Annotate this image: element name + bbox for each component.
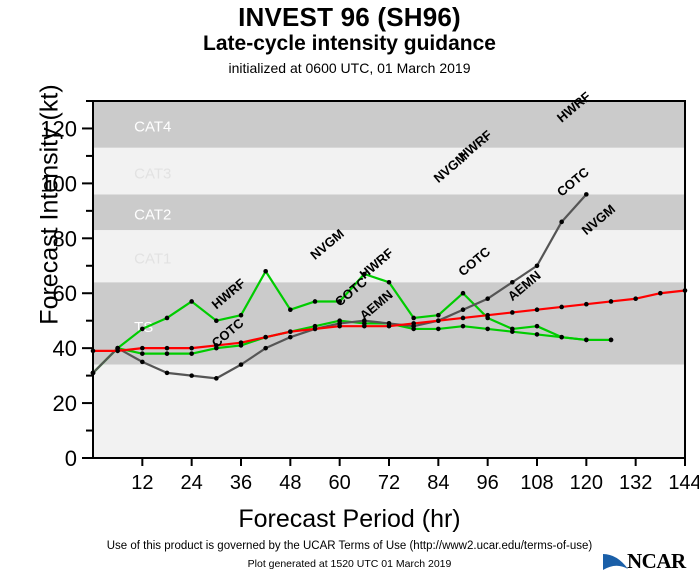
series-point-aemn [633, 296, 638, 301]
intensity-chart: TSCAT1CAT2CAT3CAT41224364860728496108120… [0, 0, 699, 577]
series-point-hwrf [214, 318, 219, 323]
series-point-aemn [584, 302, 589, 307]
series-point-nvgm [485, 327, 490, 332]
band-label-cat4: CAT4 [134, 119, 171, 136]
series-point-cotc [140, 360, 145, 365]
series-point-aemn [559, 305, 564, 310]
band-label-cat3: CAT3 [134, 165, 171, 182]
series-point-nvgm [461, 324, 466, 329]
band-label-cat1: CAT1 [134, 251, 171, 268]
series-point-nvgm [140, 351, 145, 356]
series-point-aemn [140, 346, 145, 351]
y-tick-label: 80 [53, 226, 77, 251]
y-tick-label: 60 [53, 281, 77, 306]
band-below-ts [93, 365, 685, 458]
series-point-aemn [387, 324, 392, 329]
series-point-hwrf [140, 327, 145, 332]
series-point-aemn [337, 324, 342, 329]
x-tick-label: 24 [181, 472, 203, 494]
x-tick-label: 48 [279, 472, 301, 494]
x-tick-label: 96 [477, 472, 499, 494]
series-point-aemn [288, 329, 293, 334]
series-point-hwrf [189, 299, 194, 304]
x-tick-label: 120 [570, 472, 603, 494]
series-point-cotc [559, 220, 564, 225]
series-point-hwrf [263, 269, 268, 274]
series-point-aemn [609, 299, 614, 304]
series-point-aemn [461, 316, 466, 321]
series-point-cotc [485, 296, 490, 301]
series-point-nvgm [584, 338, 589, 343]
chart-page: INVEST 96 (SH96) Late-cycle intensity gu… [0, 0, 699, 577]
series-point-hwrf [313, 299, 318, 304]
series-point-nvgm [436, 327, 441, 332]
series-point-cotc [91, 371, 96, 376]
series-point-aemn [411, 321, 416, 326]
x-tick-label: 132 [619, 472, 652, 494]
series-point-cotc [189, 373, 194, 378]
x-tick-label: 60 [329, 472, 351, 494]
band-cat3 [93, 148, 685, 195]
series-point-nvgm [559, 335, 564, 340]
series-point-hwrf [239, 313, 244, 318]
x-tick-label: 36 [230, 472, 252, 494]
series-point-cotc [288, 335, 293, 340]
x-tick-label: 12 [131, 472, 153, 494]
y-tick-label: 20 [53, 391, 77, 416]
y-tick-label: 120 [40, 116, 77, 141]
series-point-hwrf [288, 307, 293, 312]
series-point-hwrf [461, 291, 466, 296]
x-tick-label: 72 [378, 472, 400, 494]
series-point-cotc [461, 307, 466, 312]
series-point-hwrf [436, 313, 441, 318]
series-point-nvgm [165, 351, 170, 356]
series-point-aemn [510, 310, 515, 315]
terms-of-use-text: Use of this product is governed by the U… [0, 540, 699, 552]
series-point-aemn [362, 324, 367, 329]
series-point-cotc [263, 346, 268, 351]
series-point-hwrf [165, 316, 170, 321]
series-point-aemn [535, 307, 540, 312]
x-tick-label: 84 [427, 472, 449, 494]
series-point-nvgm [609, 338, 614, 343]
y-tick-label: 100 [40, 171, 77, 196]
series-point-aemn [165, 346, 170, 351]
series-point-nvgm [189, 351, 194, 356]
series-point-nvgm [510, 329, 515, 334]
ncar-logo-text: NCAR [627, 549, 686, 574]
series-point-aemn [263, 335, 268, 340]
band-cat4 [93, 101, 685, 148]
series-point-aemn [485, 313, 490, 318]
series-point-nvgm [535, 332, 540, 337]
series-point-aemn [313, 327, 318, 332]
series-point-cotc [214, 376, 219, 381]
series-point-aemn [91, 349, 96, 354]
series-point-aemn [189, 346, 194, 351]
series-point-cotc [535, 263, 540, 268]
series-point-hwrf [387, 280, 392, 285]
series-point-aemn [658, 291, 663, 296]
plot-generated-text: Plot generated at 1520 UTC 01 March 2019 [0, 558, 699, 570]
x-tick-label: 108 [520, 472, 553, 494]
series-point-hwrf [411, 316, 416, 321]
series-point-cotc [165, 371, 170, 376]
series-point-aemn [683, 288, 688, 293]
series-point-aemn [115, 349, 120, 354]
series-point-cotc [584, 192, 589, 197]
y-tick-label: 40 [53, 336, 77, 361]
y-tick-label: 0 [65, 446, 77, 471]
series-point-hwrf [535, 324, 540, 329]
band-label-cat2: CAT2 [134, 207, 171, 224]
series-point-cotc [239, 362, 244, 367]
x-tick-label: 144 [668, 472, 699, 494]
series-point-aemn [239, 340, 244, 345]
series-point-aemn [436, 318, 441, 323]
